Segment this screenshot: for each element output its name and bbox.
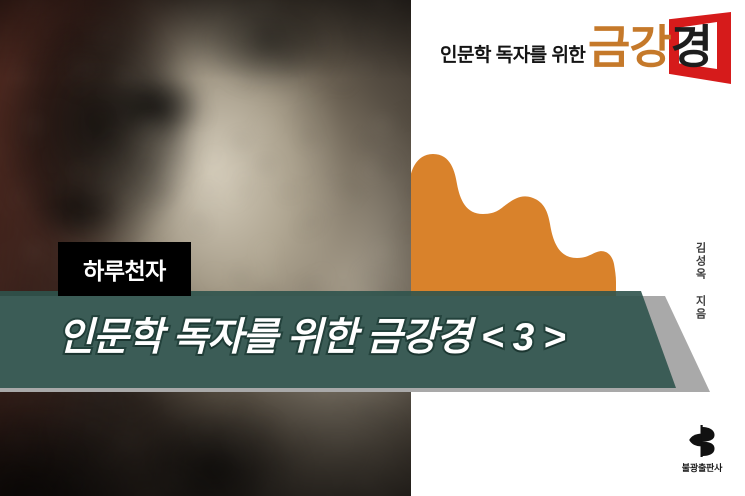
publisher-logo: 불광출판사 — [674, 424, 730, 474]
author-credit: 김성옥 지음 — [687, 242, 705, 321]
brand-logo: 금강경 — [588, 12, 736, 90]
poster-canvas: 인문학 독자를 위한 금강경 인문학 독자를 위한 금강경 < 3 > 하루천자… — [0, 0, 745, 496]
category-badge-label: 하루천자 — [83, 252, 166, 286]
brand-wordmark-main: 금강 — [588, 20, 671, 74]
poster-title: 인문학 독자를 위한 금강경 < 3 > — [58, 306, 565, 362]
publisher-name: 불광출판사 — [674, 461, 730, 474]
brand-wordmark-last: 경 — [671, 20, 712, 74]
bulkwang-logo-mark — [687, 424, 717, 458]
category-badge: 하루천자 — [58, 242, 191, 296]
brand-wordmark: 금강경 — [588, 24, 712, 70]
header-eyebrow: 인문학 독자를 위한 — [440, 40, 585, 67]
